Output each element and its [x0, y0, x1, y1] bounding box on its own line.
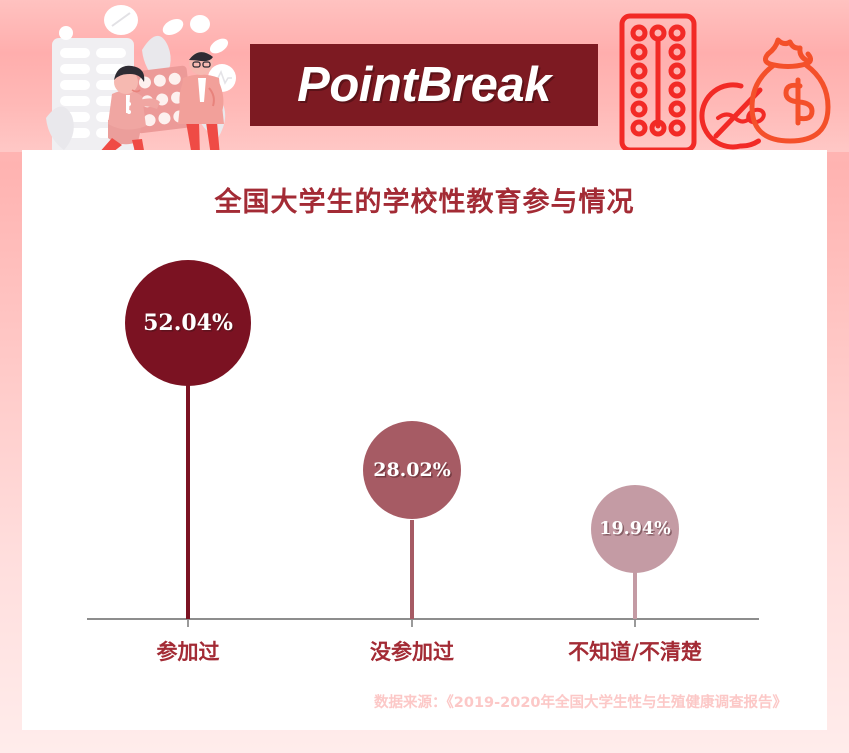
- lollipop-chart: 52.04% 参加过 28.02% 没参加过 19.94%: [22, 150, 827, 730]
- lollipop-stem: [410, 520, 414, 619]
- people-holding-pill-blister-pack-illustration: [46, 0, 256, 160]
- value-label: 19.94%: [599, 519, 670, 539]
- category-label: 参加过: [118, 636, 258, 666]
- x-axis-tick: [634, 620, 636, 627]
- brand-logo: PointBreak: [250, 44, 598, 126]
- data-source-note: 数据来源：《2019-2020年全国大学生性与生殖健康调查报告》: [374, 691, 787, 712]
- lollipop-stem: [186, 385, 190, 619]
- lollipop-bubble: 52.04%: [125, 260, 251, 386]
- value-label: 52.04%: [143, 310, 233, 336]
- lollipop-stem: [633, 572, 637, 619]
- category-label: 不知道/不清楚: [545, 636, 725, 666]
- brand-logo-text: PointBreak: [297, 61, 551, 110]
- lollipop-bubble: 19.94%: [591, 485, 679, 573]
- category-label: 没参加过: [342, 636, 482, 666]
- contraception-line-icons: [608, 8, 840, 160]
- x-axis-tick: [187, 620, 189, 627]
- chart-card: 全国大学生的学校性教育参与情况 52.04% 参加过 28.02% 没参加过: [22, 150, 827, 730]
- lollipop-bubble: 28.02%: [363, 421, 461, 519]
- x-axis-tick: [411, 620, 413, 627]
- infographic-root: PointBreak 全国大学生的学校性教育参与情况 52.04% 参加过 28…: [0, 0, 849, 753]
- value-label: 28.02%: [373, 459, 451, 481]
